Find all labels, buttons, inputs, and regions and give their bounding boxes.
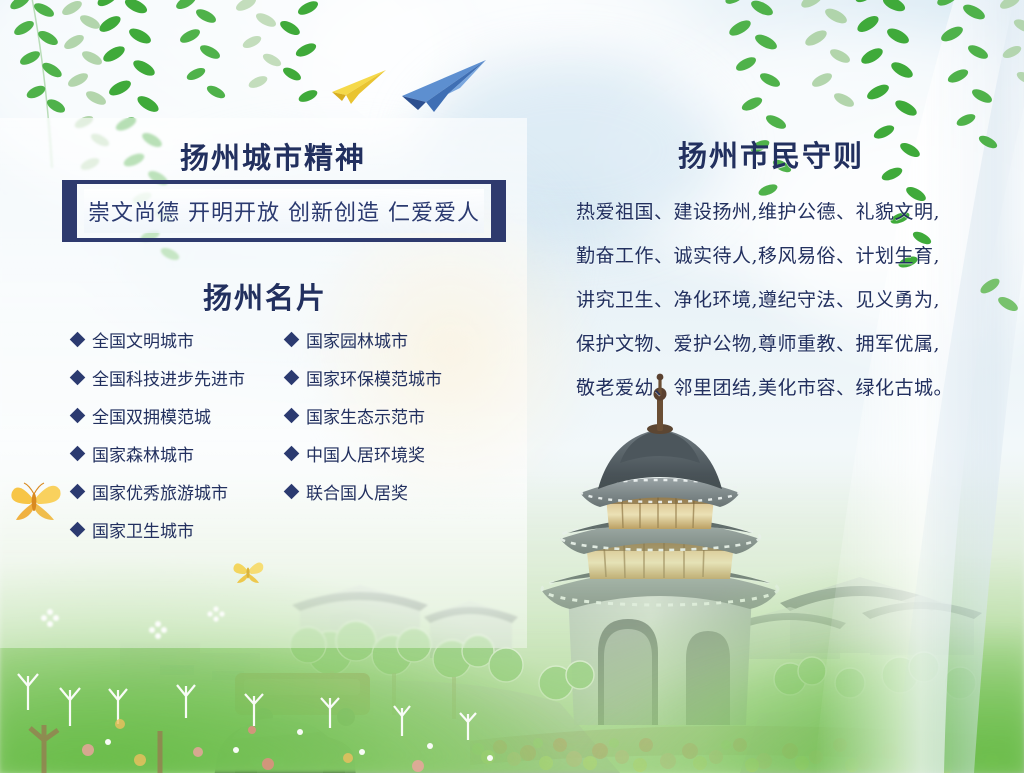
list-item-label: 国家生态示范市 bbox=[306, 403, 425, 428]
list-item: 国家优秀旅游城市 bbox=[72, 472, 286, 510]
diamond-bullet-icon bbox=[284, 483, 300, 499]
diamond-bullet-icon bbox=[70, 407, 86, 423]
list-item-label: 国家森林城市 bbox=[92, 441, 194, 466]
city-card-title: 扬州名片 bbox=[203, 275, 327, 317]
list-item-label: 国家环保模范城市 bbox=[306, 365, 442, 390]
city-card-list: 全国文明城市 国家园林城市 全国科技进步先进市 国家环保模范城市 全国双拥模范城… bbox=[72, 320, 502, 548]
list-item: 全国文明城市 bbox=[72, 320, 286, 358]
list-item-label: 全国科技进步先进市 bbox=[92, 365, 245, 390]
rules-line: 保护文物、爱护公物,尊师重教、拥军优属, bbox=[576, 322, 976, 366]
diamond-bullet-icon bbox=[284, 445, 300, 461]
spirit-banner: 崇文尚德 开明开放 创新创造 仁爱爱人 bbox=[62, 180, 506, 242]
banner-top-rule bbox=[62, 180, 506, 184]
banner-right-bar bbox=[491, 180, 506, 242]
rules-line: 勤奋工作、诚实待人,移风易俗、计划生育, bbox=[576, 234, 976, 278]
diamond-bullet-icon bbox=[70, 521, 86, 537]
list-item: 全国双拥模范城 bbox=[72, 396, 286, 434]
list-item: 国家卫生城市 bbox=[72, 510, 286, 548]
spirit-title: 扬州城市精神 bbox=[180, 135, 366, 177]
rules-line: 讲究卫生、净化环境,遵纪守法、见义勇为, bbox=[576, 278, 976, 322]
paper-plane-icon bbox=[326, 68, 388, 106]
list-item: 联合国人居奖 bbox=[286, 472, 502, 510]
list-item: 国家环保模范城市 bbox=[286, 358, 502, 396]
banner-bottom-rule bbox=[62, 238, 506, 242]
list-item: 中国人居环境奖 bbox=[286, 434, 502, 472]
list-item-label: 全国双拥模范城 bbox=[92, 403, 211, 428]
diamond-bullet-icon bbox=[70, 445, 86, 461]
poster-canvas: 扬州城市精神 崇文尚德 开明开放 创新创造 仁爱爱人 扬州名片 全国文明城市 国… bbox=[0, 0, 1024, 773]
list-item: 全国科技进步先进市 bbox=[72, 358, 286, 396]
diamond-bullet-icon bbox=[284, 369, 300, 385]
diamond-bullet-icon bbox=[284, 407, 300, 423]
list-item: 国家森林城市 bbox=[72, 434, 286, 472]
banner-left-bar bbox=[62, 180, 77, 242]
list-item-label: 国家园林城市 bbox=[306, 327, 408, 352]
diamond-bullet-icon bbox=[70, 369, 86, 385]
list-item-label: 中国人居环境奖 bbox=[306, 441, 425, 466]
diamond-bullet-icon bbox=[284, 331, 300, 347]
spirit-slogan: 崇文尚德 开明开放 创新创造 仁爱爱人 bbox=[84, 189, 484, 233]
list-item-label: 联合国人居奖 bbox=[306, 479, 408, 504]
list-item-label: 国家卫生城市 bbox=[92, 517, 194, 542]
rules-body: 热爱祖国、建设扬州,维护公德、礼貌文明, 勤奋工作、诚实待人,移风易俗、计划生育… bbox=[576, 190, 976, 410]
rules-line: 热爱祖国、建设扬州,维护公德、礼貌文明, bbox=[576, 190, 976, 234]
list-item: 国家园林城市 bbox=[286, 320, 502, 358]
list-item: 国家生态示范市 bbox=[286, 396, 502, 434]
rules-line: 敬老爱幼、邻里团结,美化市容、绿化古城。 bbox=[576, 366, 976, 410]
list-item-label: 国家优秀旅游城市 bbox=[92, 479, 228, 504]
paper-plane-icon bbox=[392, 58, 488, 114]
diamond-bullet-icon bbox=[70, 483, 86, 499]
rules-title: 扬州市民守则 bbox=[678, 133, 864, 175]
diamond-bullet-icon bbox=[70, 331, 86, 347]
list-item-label: 全国文明城市 bbox=[92, 327, 194, 352]
